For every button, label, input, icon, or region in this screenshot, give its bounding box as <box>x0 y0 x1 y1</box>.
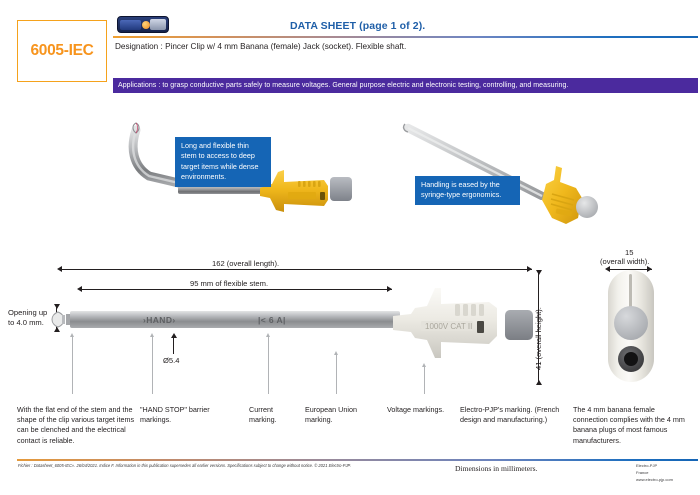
overall-length-arrow-right <box>527 266 532 272</box>
leader-voltage-head <box>422 363 426 367</box>
leader-voltage <box>424 366 425 394</box>
overall-length-line <box>62 269 532 270</box>
hand-stop-marking-text: HAND <box>146 315 172 325</box>
overall-height-arrow-bottom <box>536 380 542 385</box>
applications-bar: Applications : to grasp conductive parts… <box>113 78 698 93</box>
opening-label-line1: Opening up <box>8 308 47 317</box>
overall-height-label: 41 (overall height). <box>534 307 543 370</box>
caption-hand-stop: "HAND STOP" barrier markings. <box>140 405 240 425</box>
product2-plunger <box>576 196 598 218</box>
caption-clip-contact: With the flat end of the stem and the sh… <box>17 405 135 446</box>
diameter-arrow <box>171 333 177 338</box>
product1-plunger <box>330 177 352 201</box>
leader-current-head <box>266 333 270 337</box>
footer-company-block: Electro-PJP France www.electro-pjp.com <box>636 462 673 483</box>
current-marking: |< 6 A| <box>258 315 286 325</box>
flexible-stem-line <box>82 289 392 290</box>
leader-hand-stop-head <box>150 333 154 337</box>
footer-country: France <box>636 469 673 476</box>
product-reference: 6005-IEC <box>30 42 93 60</box>
logo-orange-dot <box>142 21 150 29</box>
callout-flexible-stem: Long and flexible thin stem to access to… <box>175 137 271 187</box>
overall-length-arrow-left <box>57 266 62 272</box>
product-photos: Long and flexible thin stem to access to… <box>0 104 700 244</box>
overall-width-label: (overall width). <box>600 257 649 266</box>
leader-hand-stop <box>152 336 153 394</box>
overall-width-value: 15 <box>625 248 633 257</box>
overall-width-arrow-left <box>605 266 610 272</box>
technical-handle-body: 1000V CAT II <box>393 288 513 360</box>
electro-pjp-logo <box>117 16 169 33</box>
overall-length-label: 162 (overall length). <box>212 259 279 268</box>
callout-flexible-stem-text: Long and flexible thin stem to access to… <box>181 141 259 181</box>
technical-shaft <box>70 311 400 328</box>
svg-text:1000V CAT II: 1000V CAT II <box>425 322 472 331</box>
logo-right-chip <box>150 19 166 30</box>
datasheet-page: 6005-IEC DATA SHEET (page 1 of 2). Desig… <box>0 0 700 495</box>
footer-divider <box>17 459 698 461</box>
page-title: DATA SHEET (page 1 of 2). <box>290 20 425 32</box>
flexible-stem-label: 95 mm of flexible stem. <box>190 279 268 288</box>
applications-text: Applications : to grasp conductive parts… <box>113 82 568 89</box>
caption-current: Current marking. <box>249 405 297 425</box>
caption-banana-socket: The 4 mm banana female connection compli… <box>573 405 691 446</box>
current-marking-text: < 6 A <box>261 315 283 325</box>
diameter-label: Ø5.4 <box>163 356 179 365</box>
header-divider <box>113 36 698 38</box>
footer-units-note: Dimensions in millimeters. <box>455 464 537 473</box>
caption-voltage: Voltage markings. <box>387 405 449 415</box>
leader-clip-head <box>70 333 74 337</box>
leader-eu-head <box>334 351 338 355</box>
leader-eu <box>336 354 337 394</box>
end-view-drawing <box>608 270 654 382</box>
product-designation: Designation : Pincer Clip w/ 4 mm Banana… <box>115 42 406 51</box>
product2-yellow-body <box>536 166 588 226</box>
footer-fine-print: Fichier : Datasheet_6005-IEC». 26/04/202… <box>18 463 351 468</box>
end-view-banana-socket-bore <box>624 352 638 366</box>
callout-ergonomics-text: Handling is eased by the syringe-type er… <box>421 180 501 199</box>
leader-current <box>268 336 269 394</box>
flexible-stem-arrow-left <box>77 286 82 292</box>
end-view-thumb-disc <box>614 306 648 340</box>
opening-label-line2: to 4.0 mm. <box>8 318 44 327</box>
logo-left-chip <box>120 20 141 30</box>
technical-plunger <box>505 310 533 340</box>
callout-ergonomics: Handling is eased by the syringe-type er… <box>415 176 520 205</box>
technical-drawing: 162 (overall length). 95 mm of flexible … <box>0 248 700 398</box>
hand-stop-marking: ›HAND› <box>143 315 176 325</box>
product1-clip-tip <box>131 122 141 134</box>
opening-arrow-down <box>54 304 60 309</box>
product-reference-box: 6005-IEC <box>17 20 107 82</box>
flexible-stem-arrow-right <box>387 286 392 292</box>
leader-clip <box>72 336 73 394</box>
overall-width-arrow-right <box>647 266 652 272</box>
diameter-line <box>173 336 174 354</box>
footer-website[interactable]: www.electro-pjp.com <box>636 476 673 483</box>
caption-european-union: European Union marking. <box>305 405 367 425</box>
footer-company-name: Electro-PJP <box>636 462 673 469</box>
caption-electro-pjp-marking: Electro-PJP's marking. (French design an… <box>460 405 560 425</box>
technical-clip-jaws <box>45 310 71 329</box>
overall-height-arrow-top <box>536 270 542 275</box>
